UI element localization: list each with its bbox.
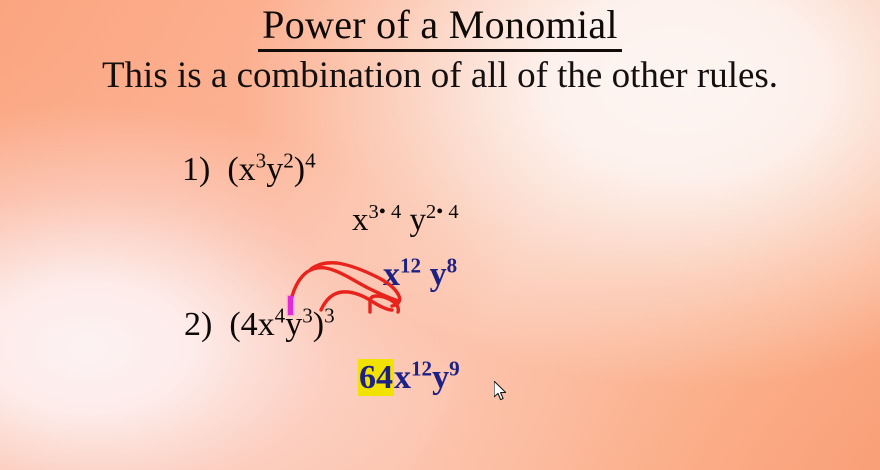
problem-1-answer-part-1-exponent: 12 [400, 254, 421, 278]
problem-2-expression: 2) (4x4y3)3 [184, 305, 335, 345]
problem-1-part-3-exponent: 4 [305, 149, 316, 173]
problem-2-answer-part-1-exponent: 12 [411, 357, 432, 381]
problem-1-part-1-exponent: 3 [256, 149, 267, 173]
page-subtitle: This is a combination of all of the othe… [30, 53, 850, 99]
problem-1-answer-part-2-text: y [421, 256, 447, 293]
problem-2-number: 2) [184, 306, 212, 343]
problem-1-work: x3• 4 y2• 4 [352, 200, 459, 240]
problem-1-answer-part-2-exponent: 8 [447, 254, 458, 278]
problem-2-part-1-text: (4x [229, 306, 274, 343]
problem-1-work-part-2-exponent: 2• 4 [426, 201, 459, 223]
problem-2-answer: 64x12y9 [358, 358, 460, 398]
problem-1-number: 1) [182, 151, 210, 188]
problem-1-expression: 1) (x3y2)4 [182, 150, 316, 190]
problem-1-work-part-1-text: x [352, 202, 369, 238]
problem-2-answer-part-2-exponent: 9 [449, 357, 460, 381]
problem-2-part-3-exponent: 3 [324, 304, 335, 328]
text-caret [288, 296, 293, 315]
problem-1-answer-part-1-text: x [383, 256, 400, 293]
problem-1-answer: x12 y8 [383, 255, 457, 295]
page-title-text: Power of a Monomial [258, 2, 622, 52]
problem-2-answer-coefficient: 64 [358, 359, 394, 396]
problem-2-answer-part-1-text: x [394, 359, 411, 396]
page-title: Power of a Monomial [0, 2, 880, 48]
problem-2-answer-part-2-text: y [432, 359, 449, 396]
problem-1-part-1-text: (x [227, 151, 255, 188]
problem-1-part-3-text: ) [294, 151, 305, 188]
problem-1-work-part-2-text: y [401, 202, 426, 238]
problem-1-work-part-1-exponent: 3• 4 [369, 201, 402, 223]
problem-1-part-2-exponent: 2 [283, 149, 294, 173]
problem-1-part-2-text: y [266, 151, 283, 188]
problem-2-part-2-exponent: 3 [302, 304, 313, 328]
slide-canvas: Power of a Monomial This is a combinatio… [0, 0, 880, 470]
problem-2-part-1-exponent: 4 [275, 304, 286, 328]
mouse-cursor-icon [494, 381, 508, 402]
problem-2-part-3-text: ) [313, 306, 324, 343]
